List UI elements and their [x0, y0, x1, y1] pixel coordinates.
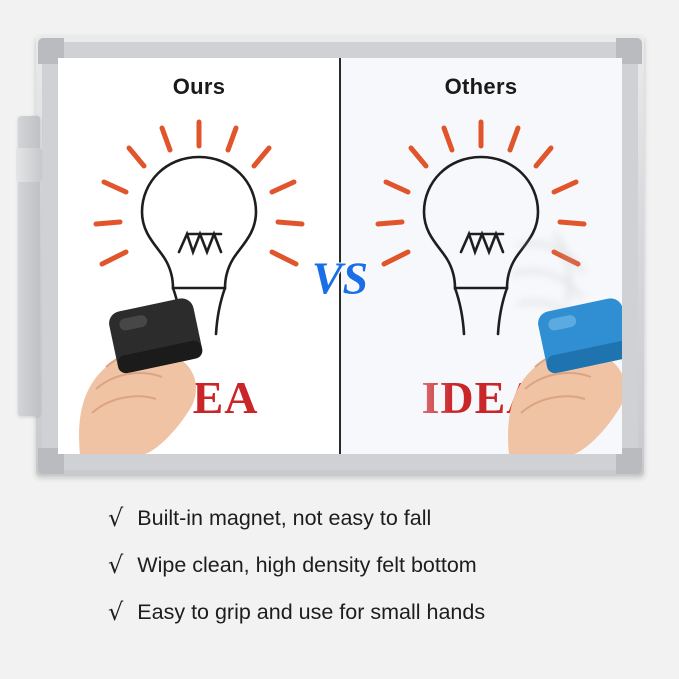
hand-with-blue-eraser [499, 285, 622, 454]
hand-with-black-eraser [70, 285, 260, 454]
list-item: √ Wipe clean, high density felt bottom [108, 552, 578, 578]
marker-tray-clip [16, 148, 42, 182]
panel-ours-title: Ours [58, 74, 340, 100]
whiteboard: Ours [36, 36, 644, 476]
list-item: √ Easy to grip and use for small hands [108, 599, 578, 625]
feature-text: Wipe clean, high density felt bottom [137, 553, 476, 578]
check-icon: √ [108, 506, 123, 530]
check-icon: √ [108, 600, 123, 624]
check-icon: √ [108, 553, 123, 577]
list-item: √ Built-in magnet, not easy to fall [108, 505, 578, 531]
panel-others-title: Others [340, 74, 622, 100]
hand-icon [499, 285, 622, 454]
feature-list: √ Built-in magnet, not easy to fall √ Wi… [108, 505, 578, 646]
panel-ours: Ours [58, 58, 340, 454]
feature-text: Built-in magnet, not easy to fall [137, 506, 431, 531]
feature-text: Easy to grip and use for small hands [137, 600, 485, 625]
whiteboard-surface: Ours [58, 58, 622, 454]
hand-icon [70, 285, 260, 454]
vs-badge: VS [312, 252, 368, 305]
panel-others: Others [340, 58, 622, 454]
product-image-scene: Ours [0, 0, 679, 679]
